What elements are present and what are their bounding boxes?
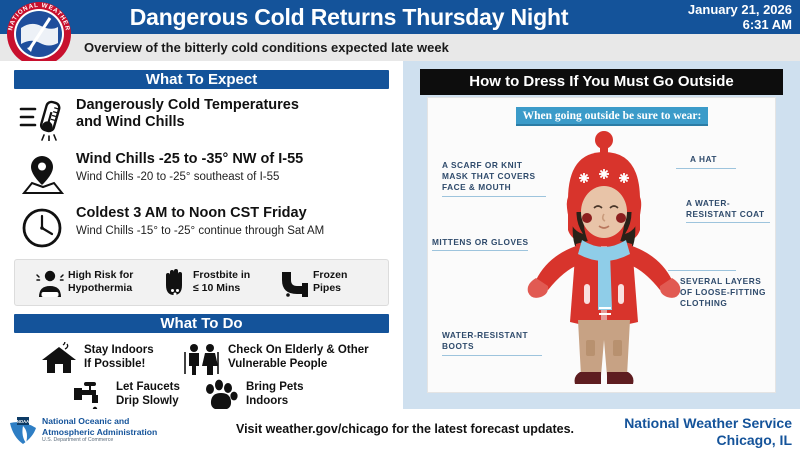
todo-label: Stay Indoors If Possible! xyxy=(84,343,154,371)
hazard-frostbite: Frostbite in ≤ 10 Mins xyxy=(160,266,285,302)
house-icon xyxy=(38,342,80,376)
layers-label-line3: CLOTHING xyxy=(680,298,727,308)
coat-label-line2: RESISTANT COAT xyxy=(686,209,765,219)
expect-title-line2: and Wind Chills xyxy=(76,114,185,130)
right-panel: How to Dress If You Must Go Outside When… xyxy=(403,61,800,409)
scarf-label-line3: FACE & MOUTH xyxy=(442,182,511,192)
noaa-line1: National Oceanic and xyxy=(42,416,129,426)
footer-office-location: Chicago, IL xyxy=(562,432,792,449)
todo-line2: Vulnerable People xyxy=(228,358,327,370)
clock-icon xyxy=(18,207,70,249)
expect-item-subtitle: Wind Chills -15° to -25° continue throug… xyxy=(76,224,406,239)
coat-label-line1: A WATER- xyxy=(686,198,730,208)
national-weather-service-seal: NATIONAL WEATHER SERVICE xyxy=(3,0,75,70)
how-to-dress-header: How to Dress If You Must Go Outside xyxy=(420,69,783,95)
footer-visit-text: Visit weather.gov/chicago for the latest… xyxy=(215,422,595,436)
todo-line1: Bring Pets xyxy=(246,381,304,393)
todo-line2: Drip Slowly xyxy=(116,395,179,407)
expect-item-title: Dangerously Cold Temperatures and Wind C… xyxy=(76,97,396,131)
frostbite-hand-icon xyxy=(160,268,190,299)
layers-label-line2: OF LOOSE-FITTING xyxy=(680,287,766,297)
todo-line1: Stay Indoors xyxy=(84,344,154,356)
expect-item-temperatures: Dangerously Cold Temperatures and Wind C… xyxy=(18,99,393,139)
hat-leader-line xyxy=(676,168,736,169)
mittens-label-line1: MITTENS OR GLOVES xyxy=(432,237,529,247)
dress-badge: When going outside be sure to wear: xyxy=(516,107,708,126)
header-subtitle: Overview of the bitterly cold conditions… xyxy=(84,38,449,57)
header-date: January 21, 2026 xyxy=(602,3,792,17)
layers-leader-line xyxy=(668,270,736,271)
elderly-people-icon xyxy=(182,342,224,376)
hazard-line1: High Risk for xyxy=(68,269,133,281)
page-title: Dangerous Cold Returns Thursday Night xyxy=(84,2,614,33)
scarf-label: A SCARF OR KNIT MASK THAT COVERS FACE & … xyxy=(442,160,546,193)
what-to-do-header: What To Do xyxy=(14,314,389,333)
hat-label: A HAT xyxy=(690,154,770,165)
dress-illustration-card: When going outside be sure to wear: xyxy=(427,97,776,393)
scarf-label-line1: A SCARF OR KNIT xyxy=(442,160,522,170)
boots-label-line2: BOOTS xyxy=(442,341,474,351)
paw-print-icon xyxy=(200,379,242,413)
hazard-label: High Risk for Hypothermia xyxy=(68,269,160,295)
scarf-label-line2: MASK THAT COVERS xyxy=(442,171,536,181)
expect-item-title: Wind Chills -25 to -35° NW of I-55 xyxy=(76,151,396,168)
coat-label: A WATER- RESISTANT COAT xyxy=(686,198,774,220)
header-time: 6:31 AM xyxy=(602,18,792,32)
todo-label: Let Faucets Drip Slowly xyxy=(116,380,180,408)
hazard-hypothermia: High Risk for Hypothermia xyxy=(35,266,165,302)
todo-label: Check On Elderly & Other Vulnerable Peop… xyxy=(228,343,369,371)
noaa-department: U.S. Department of Commerce xyxy=(42,437,182,444)
expect-item-subtitle: Wind Chills -20 to -25° southeast of I-5… xyxy=(76,170,406,185)
todo-label: Bring Pets Indoors xyxy=(246,380,304,408)
thermometer-icon xyxy=(18,99,70,141)
hazard-line1: Frozen xyxy=(313,269,347,281)
footer-office-name: National Weather Service xyxy=(562,415,792,432)
weather-infographic: NATIONAL WEATHER SERVICE Dangerous Cold … xyxy=(0,0,800,450)
hazard-strip: High Risk for Hypothermia Frostbite in xyxy=(14,259,389,306)
noaa-logo: NOAA xyxy=(8,415,38,445)
expect-title-line1: Dangerously Cold Temperatures xyxy=(76,97,299,113)
scarf-leader-line xyxy=(442,196,546,197)
expect-item-wind-chills: Wind Chills -25 to -35° NW of I-55 Wind … xyxy=(18,153,393,193)
faucet-icon xyxy=(70,379,112,413)
what-to-expect-header: What To Expect xyxy=(14,70,389,89)
hazard-line1: Frostbite in xyxy=(193,269,250,281)
coat-leader-line xyxy=(686,222,770,223)
boots-leader-line xyxy=(442,355,542,356)
noaa-line2: Atmospheric Administration xyxy=(42,427,157,437)
hazard-frozen-pipes: Frozen Pipes xyxy=(280,266,385,302)
todo-line1: Check On Elderly & Other xyxy=(228,344,369,356)
noaa-agency-name: National Oceanic and Atmospheric Adminis… xyxy=(42,416,172,437)
hazard-label: Frostbite in ≤ 10 Mins xyxy=(193,269,285,295)
expect-item-coldest-window: Coldest 3 AM to Noon CST Friday Wind Chi… xyxy=(18,207,393,249)
left-panel: What To Expect xyxy=(0,61,403,409)
layers-label: SEVERAL LAYERS OF LOOSE-FITTING CLOTHING xyxy=(680,276,772,309)
hazard-line2: ≤ 10 Mins xyxy=(193,282,240,294)
frozen-pipe-icon xyxy=(280,268,310,299)
svg-text:NOAA: NOAA xyxy=(17,419,29,424)
hazard-label: Frozen Pipes xyxy=(313,269,405,295)
layers-label-line1: SEVERAL LAYERS xyxy=(680,276,761,286)
boots-label-line1: WATER-RESISTANT xyxy=(442,330,528,340)
boots-label: WATER-RESISTANT BOOTS xyxy=(442,330,552,352)
hazard-line2: Hypothermia xyxy=(68,282,132,294)
todo-line2: If Possible! xyxy=(84,358,145,370)
mittens-label: MITTENS OR GLOVES xyxy=(432,237,542,248)
todo-line1: Let Faucets xyxy=(116,381,180,393)
hypothermia-person-icon xyxy=(35,268,65,299)
footer: NOAA National Oceanic and Atmospheric Ad… xyxy=(0,409,800,450)
todo-line2: Indoors xyxy=(246,395,288,407)
hat-label-line1: A HAT xyxy=(690,154,717,164)
expect-item-title: Coldest 3 AM to Noon CST Friday xyxy=(76,205,396,222)
hazard-line2: Pipes xyxy=(313,282,341,294)
map-pin-icon xyxy=(18,153,70,195)
mittens-leader-line xyxy=(432,250,528,251)
